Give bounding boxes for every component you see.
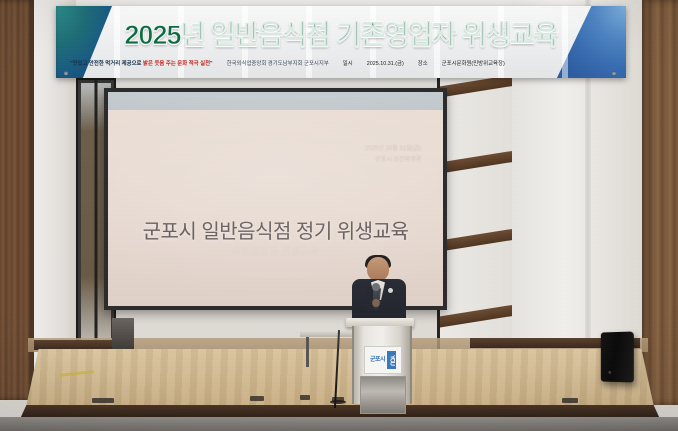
floor-outlet-3 (300, 395, 310, 400)
banner-slogan-suffix: " (210, 61, 213, 67)
left-baseboard (34, 340, 124, 350)
lectern-plaque-side-text: YOU (387, 351, 396, 369)
photo-scene: 2025년 일반음식점 기존영업자 위생교육 "맛있고 안전한 먹거리 제공으로… (0, 0, 678, 431)
presenter-person (348, 255, 410, 321)
slide-meta-line1: 2025년 10월 31일(금) (365, 144, 421, 155)
floor-outlet-2 (250, 396, 264, 401)
slide-title: 군포시 일반음식점 정기 위생교육 (108, 215, 443, 244)
lectern-lower-panel (360, 376, 406, 414)
wall-slat-3 (440, 227, 512, 253)
banner-grommet-left (64, 71, 68, 75)
banner-place-label: 장소 (418, 59, 428, 67)
presenter-hand (372, 299, 380, 307)
left-panel-mullion (95, 80, 98, 355)
banner-place-value: 군포시문화원(민방위교육장) (442, 59, 505, 67)
floor-outlet-5 (562, 398, 578, 403)
lectern-emblem-plaque: 군포시 YOU (364, 346, 402, 374)
banner-slogan-prefix: "맛있고 안전한 먹거리 제공으로 (70, 61, 143, 67)
banner-title: 2025년 일반음식점 기존영업자 위생교육 (56, 13, 626, 52)
slide-meta-line2: 군포시 보건위생과 (365, 155, 421, 166)
microphone-stand-base (330, 400, 346, 404)
stage-left-gap (112, 318, 134, 354)
presenter-lapel-badge (388, 288, 393, 293)
lectern-body: 군포시 YOU (352, 326, 412, 404)
floor-outlet-1 (92, 398, 114, 403)
lectern-plaque-text: 군포시 (370, 357, 385, 364)
banner-slogan: "맛있고 안전한 먹거리 제공으로 밝은 웃음 주는 문화 적극 실천" (70, 59, 213, 67)
banner-organization: 한국외식업중앙회 경기도남부지회 군포시지부 (227, 59, 329, 67)
presenter-head (367, 257, 389, 281)
loudspeaker-indicator (608, 371, 611, 374)
banner-date-value: 2025.10.31.(금) (367, 59, 404, 67)
floor-loudspeaker (601, 331, 634, 382)
room-floor (0, 417, 678, 431)
banner-subline: "맛있고 안전한 먹거리 제공으로 밝은 웃음 주는 문화 적극 실천" 한국외… (70, 52, 612, 74)
wall-slat-4 (440, 303, 512, 329)
banner-date-label: 일시 (343, 59, 353, 67)
wall-slat-2 (440, 149, 512, 175)
lectern: 군포시 YOU (352, 318, 408, 408)
slide-meta: 2025년 10월 31일(금) 군포시 보건위생과 (365, 144, 421, 166)
banner-grommet-right (612, 71, 616, 75)
event-banner: 2025년 일반음식점 기존영업자 위생교육 "맛있고 안전한 먹거리 제공으로… (56, 6, 626, 78)
banner-slogan-highlight: 밝은 웃음 주는 문화 적극 실천 (143, 61, 210, 67)
